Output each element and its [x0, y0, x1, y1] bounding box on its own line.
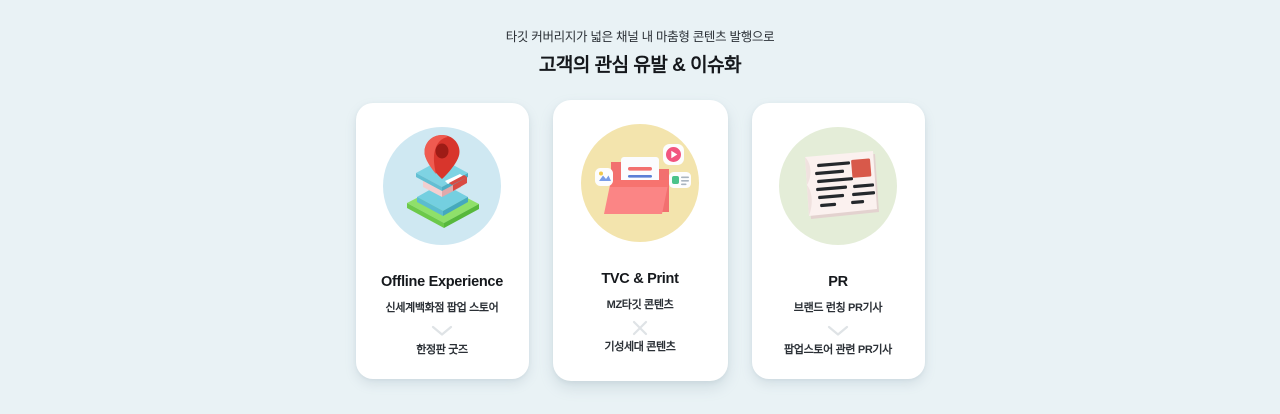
header-eyebrow: 타깃 커버리지가 넓은 채널 내 마춤형 콘텐츠 발행으로 [0, 30, 1280, 45]
card-subtitle-top: 브랜드 런칭 PR기사 [794, 302, 882, 316]
card-subtitle-top: MZ타깃 콘텐츠 [607, 299, 674, 313]
icon-circle-2 [581, 124, 699, 242]
times-icon [631, 319, 649, 337]
icon-circle-1 [383, 127, 501, 245]
card-separator [431, 322, 453, 339]
chevron-down-icon [431, 325, 453, 337]
card-separator [631, 319, 649, 336]
card-subtitle-top: 신세계백화점 팝업 스토어 [386, 302, 499, 316]
card-subtitle-bottom: 한정판 굿즈 [416, 344, 468, 358]
folder-media-icon [581, 124, 699, 242]
card-separator [827, 322, 849, 339]
card-offline-experience[interactable]: Offline Experience 신세계백화점 팝업 스토어 한정판 굿즈 [356, 103, 529, 379]
page-title: 고객의 관심 유발 & 이슈화 [0, 55, 1280, 78]
card-pr[interactable]: PR 브랜드 런칭 PR기사 팝업스토어 관련 PR기사 [752, 103, 925, 379]
icon-circle-3 [779, 127, 897, 245]
card-tvc-and-print[interactable]: TVC & Print MZ타깃 콘텐츠 기성세대 콘텐츠 [553, 100, 728, 381]
card-row: Offline Experience 신세계백화점 팝업 스토어 한정판 굿즈 [0, 100, 1280, 390]
card-subtitle-bottom: 팝업스토어 관련 PR기사 [784, 344, 892, 358]
page-header: 타깃 커버리지가 넓은 채널 내 마춤형 콘텐츠 발행으로 고객의 관심 유발 … [0, 0, 1280, 78]
card-title: TVC & Print [601, 271, 678, 288]
card-subtitle-bottom: 기성세대 콘텐츠 [604, 341, 675, 355]
newspaper-icon [779, 127, 897, 245]
card-title: PR [828, 274, 848, 291]
card-title: Offline Experience [381, 274, 503, 291]
store-location-pin-icon [383, 127, 501, 245]
chevron-down-icon [827, 325, 849, 337]
